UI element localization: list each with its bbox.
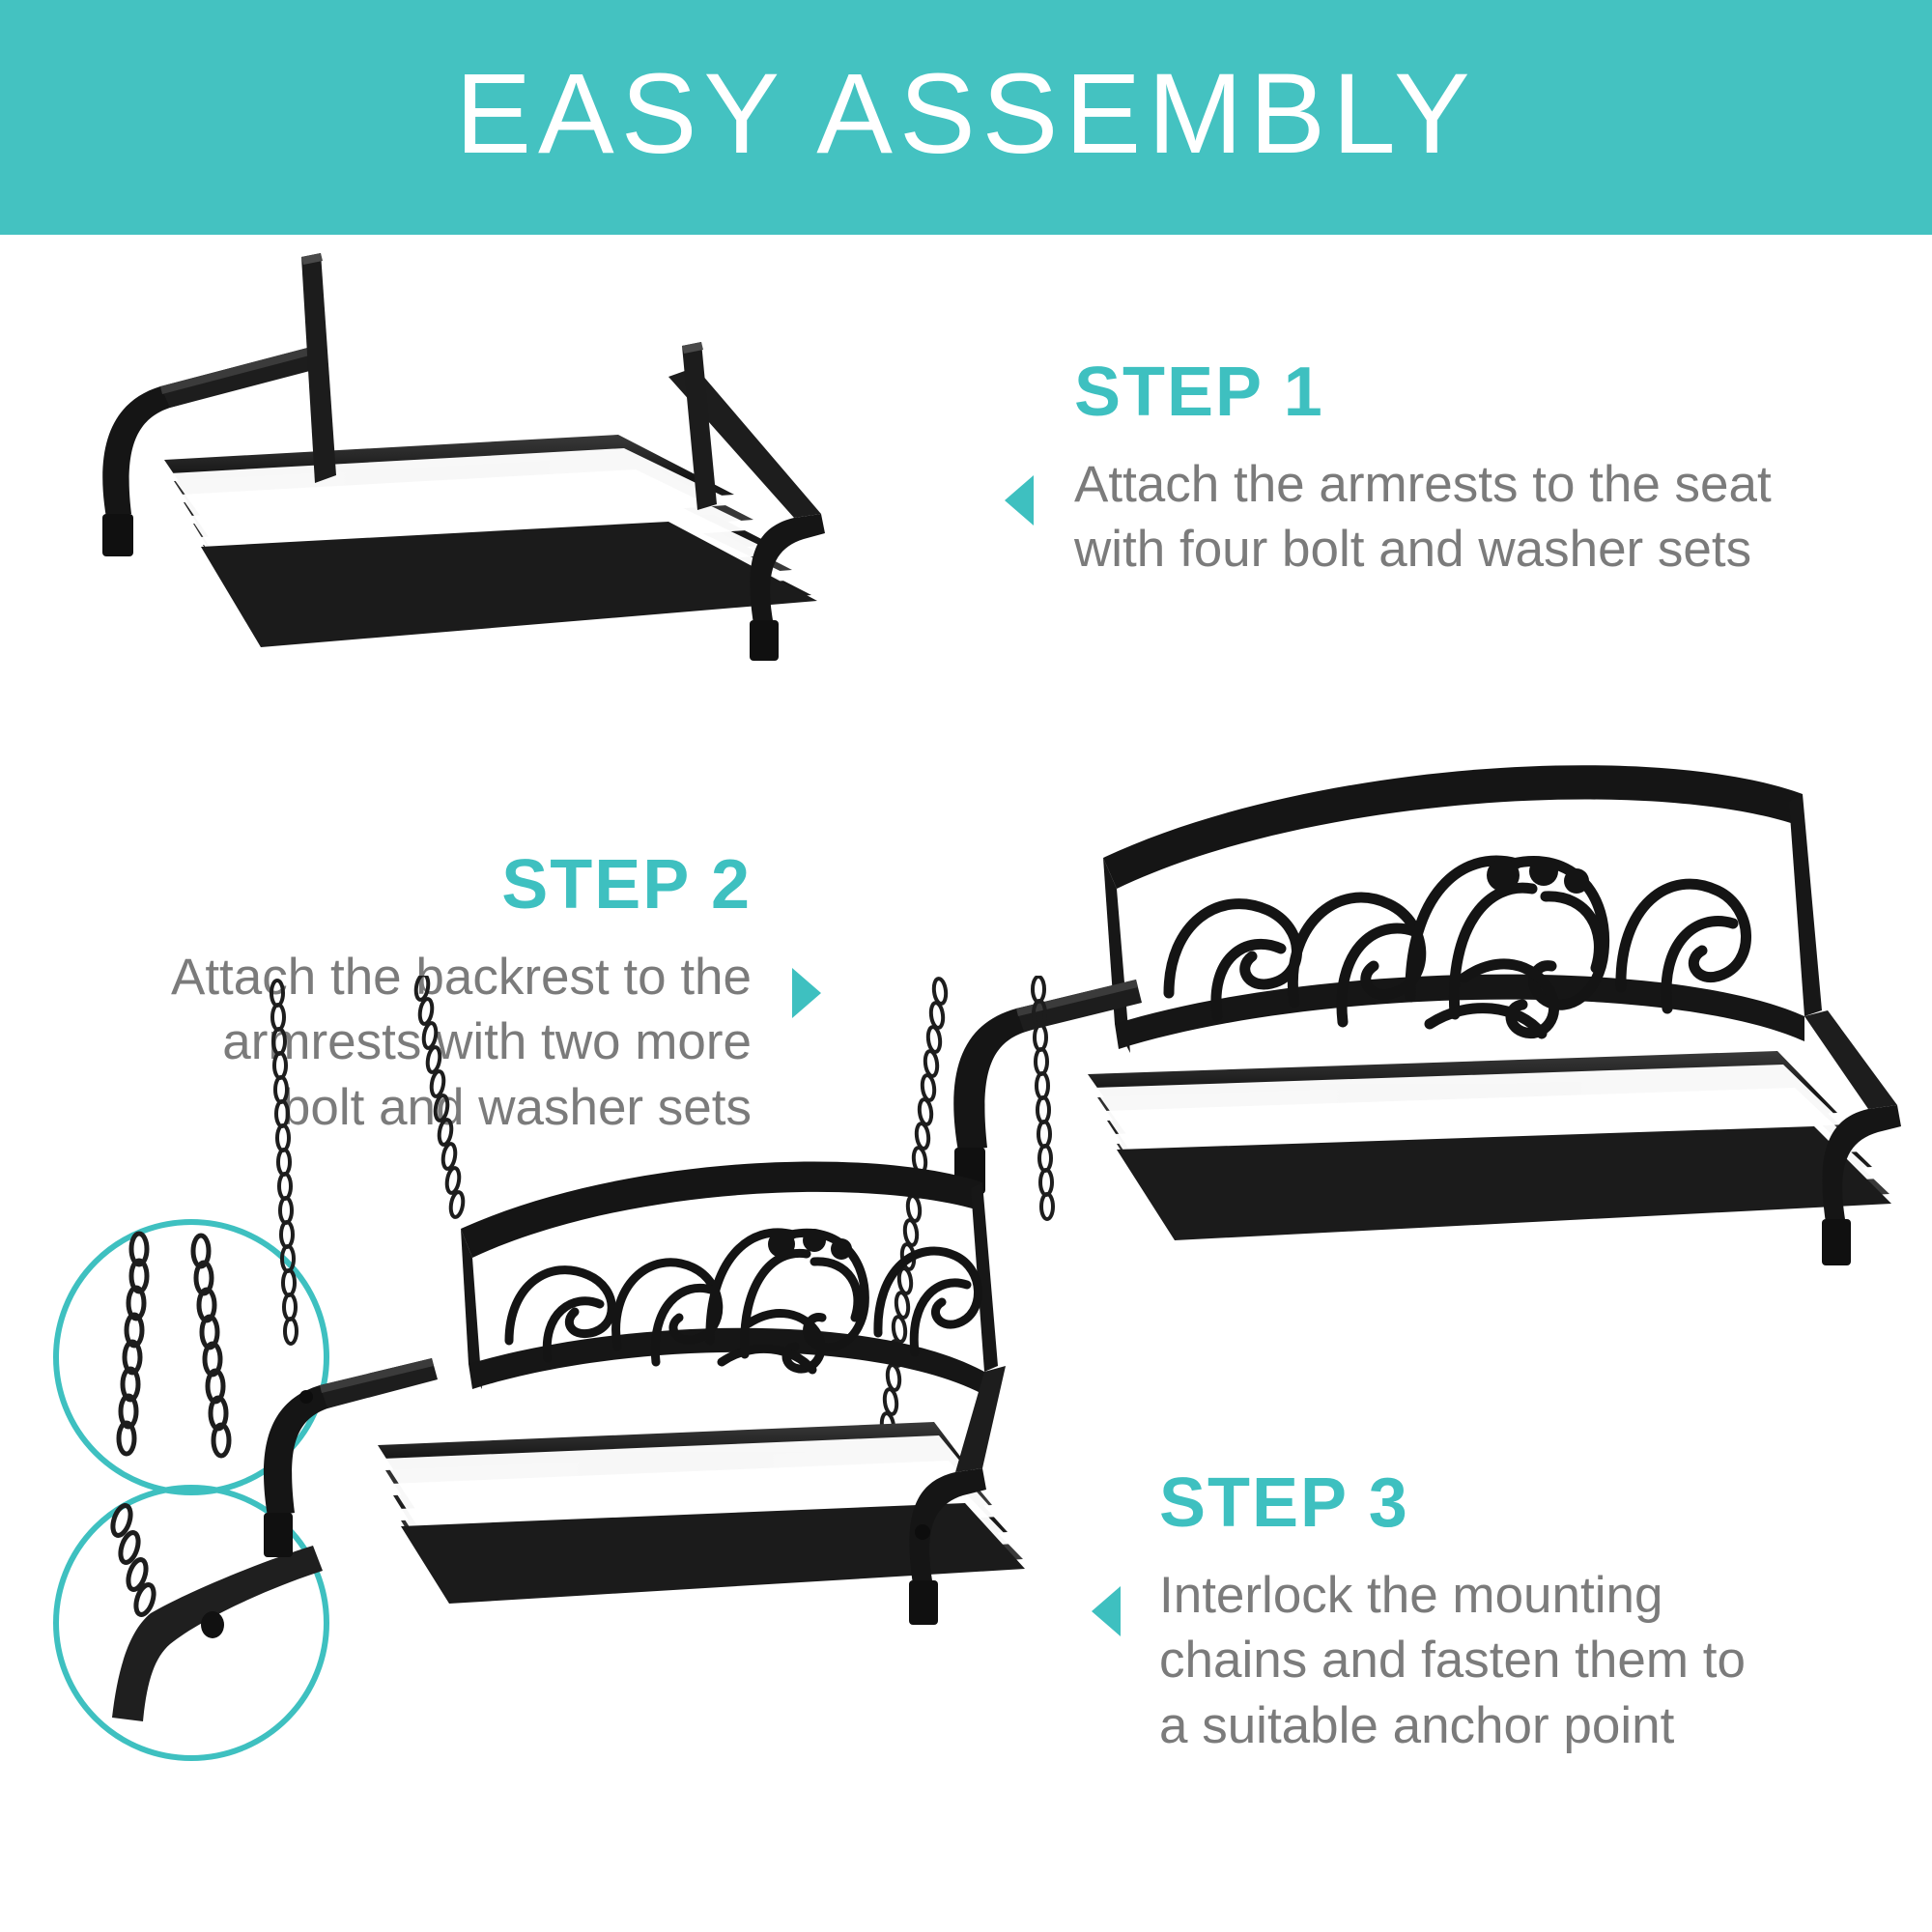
step-3-block: STEP 3 Interlock the mounting chains and… [1092, 1468, 1932, 1758]
page-title: EASY ASSEMBLY [455, 57, 1476, 171]
chain-front-left [271, 980, 297, 1344]
chain-right [193, 1236, 229, 1456]
chain-back-right [1033, 977, 1053, 1219]
step-3-body-line-1: Interlock the mounting [1159, 1563, 1746, 1628]
banner: EASY ASSEMBLY [0, 0, 1932, 235]
chain-segment [109, 1503, 156, 1616]
step-1-heading: STEP 1 [1074, 357, 1772, 427]
armrest-eyelet-left [299, 1390, 313, 1404]
step-3-heading: STEP 3 [1159, 1468, 1746, 1538]
arrow-left-icon [1092, 1586, 1121, 1636]
step-1-body-line-2: with four bolt and washer sets [1074, 517, 1772, 582]
chain-left [119, 1234, 147, 1454]
armrest-eyelet [201, 1611, 224, 1638]
arrow-left-icon [1005, 475, 1034, 526]
illustration-seat-frame-with-armrests [77, 241, 879, 676]
step-1-body-line-1: Attach the armrests to the seat [1074, 452, 1772, 517]
illustration-porch-swing-hanging-on-chains [246, 976, 1096, 1903]
armrest-eyelet-right [915, 1524, 930, 1540]
step-3-body-line-2: chains and fasten them to [1159, 1628, 1746, 1692]
step-1-block: STEP 1 Attach the armrests to the seat w… [1005, 357, 1913, 582]
right-armrest [909, 1366, 1006, 1625]
backrest-medallion [1487, 857, 1589, 894]
step-2-heading: STEP 2 [171, 850, 752, 920]
chain-back-left [414, 976, 465, 1218]
step-3-body-line-3: a suitable anchor point [1159, 1693, 1746, 1758]
